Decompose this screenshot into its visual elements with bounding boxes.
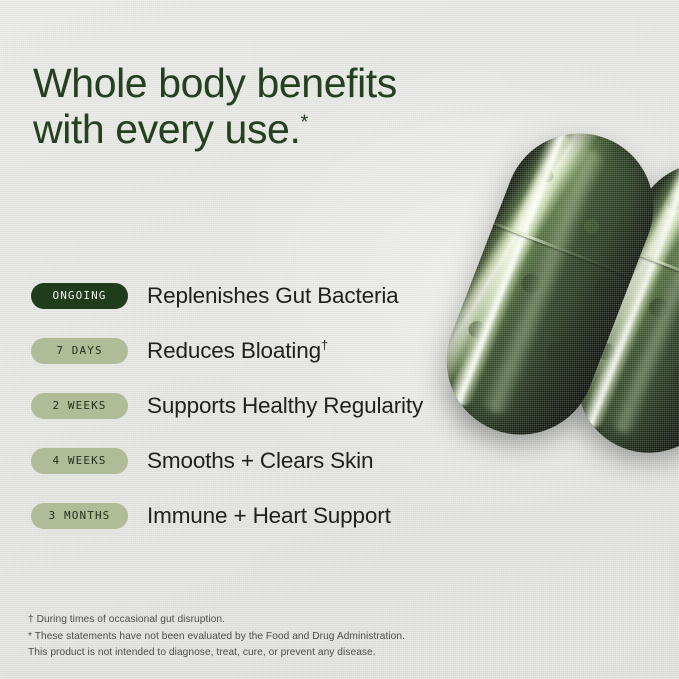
benefit-label: Supports Healthy Regularity [147, 393, 423, 419]
footnote-asterisk-line-2: This product is not intended to diagnose… [28, 645, 405, 662]
capsule-shadow-back [581, 322, 679, 467]
benefit-label: Replenishes Gut Bacteria [147, 283, 399, 309]
product-benefits-graphic: Whole body benefitswith every use.* ONGO… [0, 0, 679, 679]
benefit-label: Reduces Bloating† [147, 338, 328, 364]
benefit-label-text: Reduces Bloating [147, 338, 321, 363]
timeline-badge-4-weeks: 4 WEEKS [31, 448, 128, 474]
capsule-soft-highlight [609, 174, 679, 437]
benefits-list: ONGOING Replenishes Gut Bacteria 7 DAYS … [31, 268, 501, 543]
benefit-label-text: Replenishes Gut Bacteria [147, 283, 399, 308]
page-title: Whole body benefitswith every use.* [33, 61, 503, 153]
capsule-specular-highlight [578, 159, 679, 431]
benefit-row: 3 MONTHS Immune + Heart Support [31, 488, 501, 543]
benefit-row: 7 DAYS Reduces Bloating† [31, 323, 501, 378]
legal-disclaimer: † During times of occasional gut disrupt… [28, 612, 405, 662]
capsule-edge-shading [557, 143, 679, 474]
benefit-label-text: Supports Healthy Regularity [147, 393, 423, 418]
capsule-seam [488, 220, 638, 280]
headline-asterisk: * [300, 112, 308, 134]
benefit-label-text: Smooths + Clears Skin [147, 448, 373, 473]
capsule-texture [557, 143, 679, 474]
capsule-back [557, 143, 679, 474]
timeline-badge-2-weeks: 2 WEEKS [31, 393, 128, 419]
benefit-row: 4 WEEKS Smooths + Clears Skin [31, 433, 501, 488]
footnote-asterisk-line-1: * These statements have not been evaluat… [28, 629, 405, 646]
benefit-label: Smooths + Clears Skin [147, 448, 373, 474]
headline-line-1: Whole body benefits [33, 60, 397, 106]
footnote-dagger: † During times of occasional gut disrupt… [28, 612, 405, 629]
timeline-badge-7-days: 7 DAYS [31, 338, 128, 364]
timeline-badge-ongoing: ONGOING [31, 283, 128, 309]
benefit-footnote-marker: † [321, 337, 328, 352]
benefit-row: 2 WEEKS Supports Healthy Regularity [31, 378, 501, 433]
benefit-label: Immune + Heart Support [147, 503, 391, 529]
benefit-label-text: Immune + Heart Support [147, 503, 391, 528]
headline-line-2: with every use. [33, 106, 300, 152]
timeline-badge-3-months: 3 MONTHS [31, 503, 128, 529]
benefit-row: ONGOING Replenishes Gut Bacteria [31, 268, 501, 323]
capsule-seam [618, 245, 679, 303]
